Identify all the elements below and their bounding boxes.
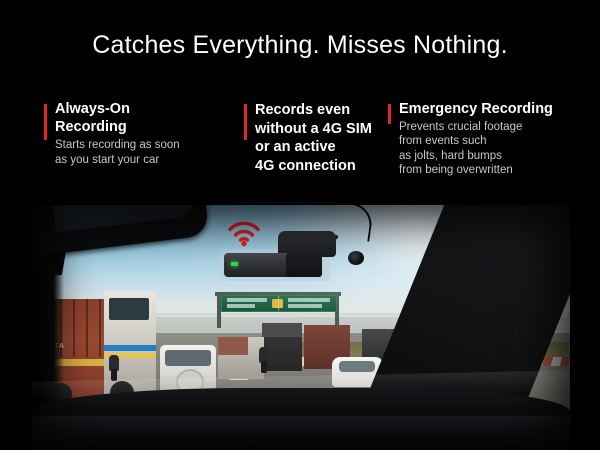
gantry-text — [288, 298, 330, 302]
truck-top — [262, 323, 302, 337]
dashcam-body-right — [286, 253, 322, 277]
motorcycle-rider — [108, 355, 120, 381]
feature-no-sim-required: Records even without a 4G SIM or an acti… — [244, 101, 394, 175]
feature-heading: Emergency Recording — [399, 101, 578, 119]
dashboard-lower — [32, 416, 570, 450]
gantry-panel — [221, 295, 337, 312]
motorcycle-rider — [258, 347, 270, 375]
status-led-indicator — [231, 262, 238, 266]
gantry-divider — [278, 296, 279, 311]
feature-heading: Records even without a 4G SIM or an acti… — [255, 101, 394, 175]
dashcam-device — [220, 219, 342, 281]
gantry-text — [227, 298, 267, 302]
mirror-glass — [53, 205, 195, 233]
accent-bar-icon — [44, 104, 47, 140]
car-window — [339, 361, 375, 372]
feature-list: Always-On Recording Starts recording as … — [44, 101, 574, 193]
cab-stripe — [104, 345, 156, 351]
accent-bar-icon — [244, 104, 247, 140]
feature-body: Prevents crucial footage from events suc… — [399, 120, 578, 178]
gantry-text — [288, 304, 322, 308]
cab-window — [109, 298, 149, 320]
poster-root: Catches Everything. Misses Nothing. Alwa… — [0, 0, 600, 450]
accent-bar-icon — [388, 104, 391, 124]
motorcycle-body — [111, 369, 117, 381]
camera-lens-icon — [348, 251, 364, 265]
suv-window — [165, 350, 211, 366]
feature-emergency-recording: Emergency Recording Prevents crucial foo… — [388, 101, 578, 178]
wifi-icon — [226, 219, 262, 247]
feature-heading: Always-On Recording — [55, 101, 224, 136]
white-suv — [160, 345, 216, 394]
motorcycle-body — [261, 361, 267, 373]
dashboard — [32, 388, 570, 450]
gantry-text — [227, 304, 255, 308]
pickup-bed — [218, 337, 248, 355]
feature-body: Starts recording as soon as you start yo… — [55, 138, 224, 167]
dashcam-scene-photo: TATA — [32, 205, 570, 450]
feature-always-on-recording: Always-On Recording Starts recording as … — [44, 101, 224, 167]
page-title: Catches Everything. Misses Nothing. — [0, 32, 600, 60]
